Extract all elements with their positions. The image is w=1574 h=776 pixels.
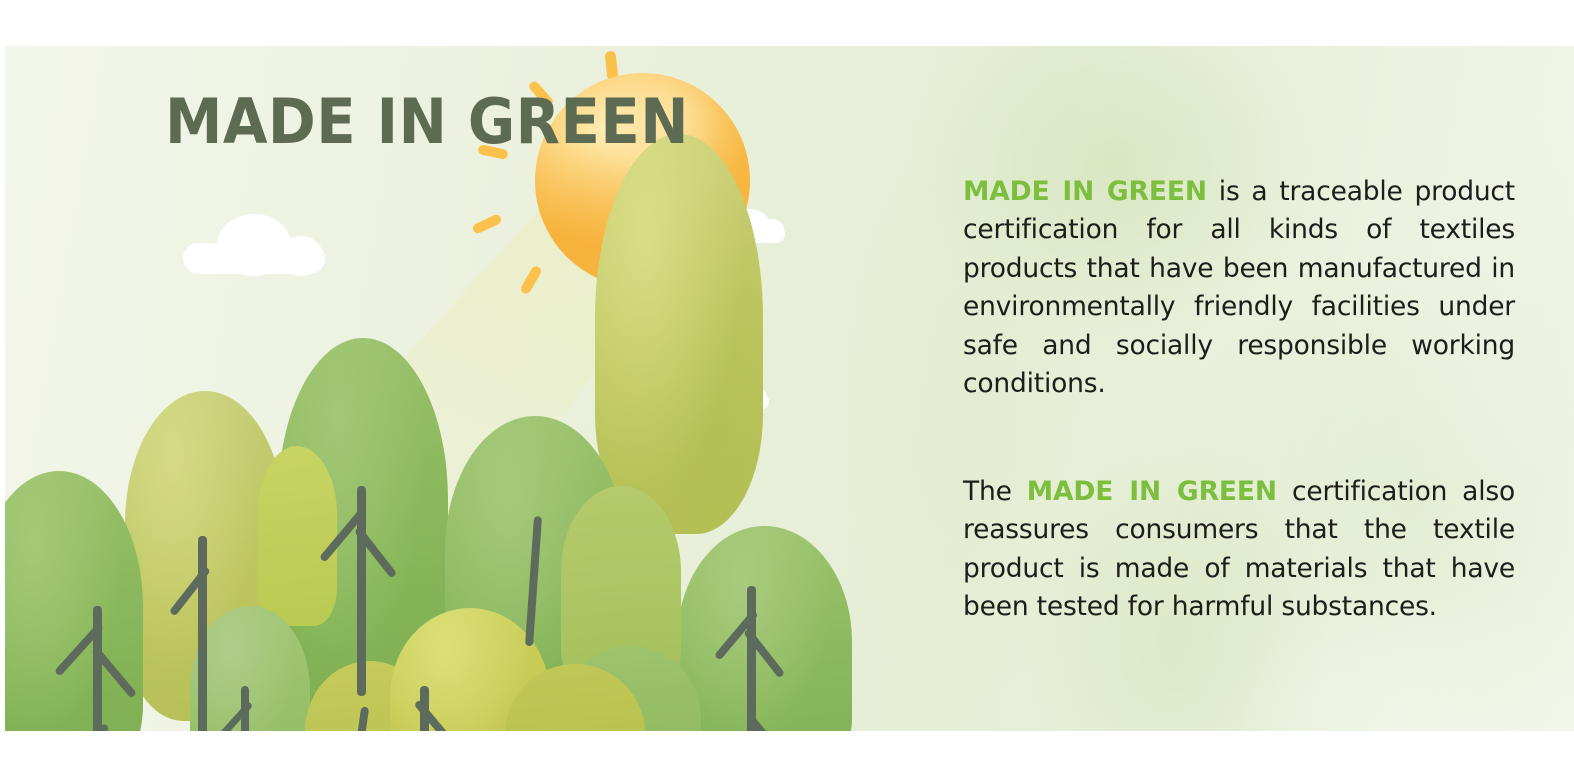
page-title: MADE IN GREEN (165, 91, 689, 153)
tree-canopy (595, 134, 763, 534)
paragraph-1: MADE IN GREEN is a traceable product cer… (963, 173, 1515, 404)
paragraph-1-body: is a traceable product certification for… (963, 176, 1515, 400)
description-column: MADE IN GREEN is a traceable product cer… (963, 146, 1515, 653)
paragraph-2: The MADE IN GREEN certification also rea… (963, 473, 1515, 627)
branch-icon (747, 586, 756, 731)
tree-canopy (5, 471, 143, 731)
cloud-icon (183, 214, 325, 274)
branch-icon (198, 536, 207, 731)
paragraph-2-lead: The (963, 476, 1027, 507)
tree-canopy (257, 446, 337, 626)
green-banner: MADE IN GREEN (5, 46, 1574, 731)
brand-name: MADE IN GREEN (1027, 476, 1277, 507)
brand-name: MADE IN GREEN (963, 176, 1207, 207)
page-root: MADE IN GREEN (0, 0, 1574, 776)
forest-illustration: MADE IN GREEN (5, 46, 905, 731)
tree-canopy (677, 526, 852, 731)
